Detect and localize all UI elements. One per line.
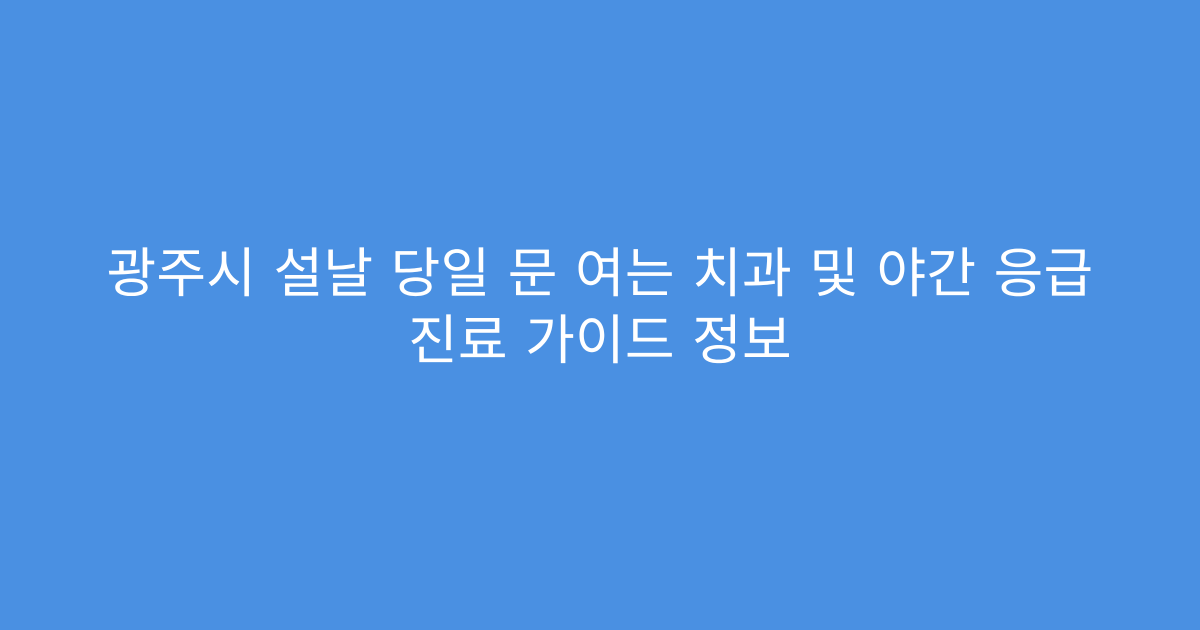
banner-content: 광주시 설날 당일 문 여는 치과 및 야간 응급 진료 가이드 정보 <box>0 240 1200 374</box>
og-banner-card: 광주시 설날 당일 문 여는 치과 및 야간 응급 진료 가이드 정보 <box>0 0 1200 630</box>
banner-title: 광주시 설날 당일 문 여는 치과 및 야간 응급 진료 가이드 정보 <box>72 240 1128 374</box>
